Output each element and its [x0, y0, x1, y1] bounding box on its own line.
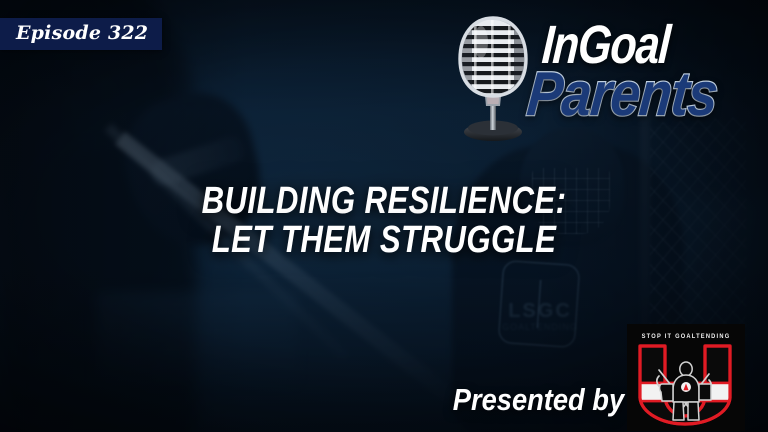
brand-wordmark: InGoal Parents	[536, 8, 750, 140]
stop-it-goaltending-u-logo	[635, 344, 737, 426]
brand-name-parents: Parents	[525, 66, 720, 124]
episode-title-line-1: BUILDING RESILIENCE:	[69, 182, 699, 221]
episode-thumbnail: LSGC GOALTENDING Episode 322	[0, 0, 768, 432]
episode-title-line-2: LET THEM STRUGGLE	[69, 221, 699, 260]
vintage-microphone-icon	[450, 14, 536, 142]
sponsor-name-text: STOP IT GOALTENDING	[632, 333, 741, 340]
presented-by-label: Presented by	[453, 383, 620, 416]
sponsor-logo: STOP IT GOALTENDING	[627, 324, 745, 431]
episode-title: BUILDING RESILIENCE: LET THEM STRUGGLE	[0, 182, 768, 260]
brand-logo: InGoal Parents	[432, 8, 750, 140]
episode-number-badge: Episode 322	[0, 18, 162, 50]
